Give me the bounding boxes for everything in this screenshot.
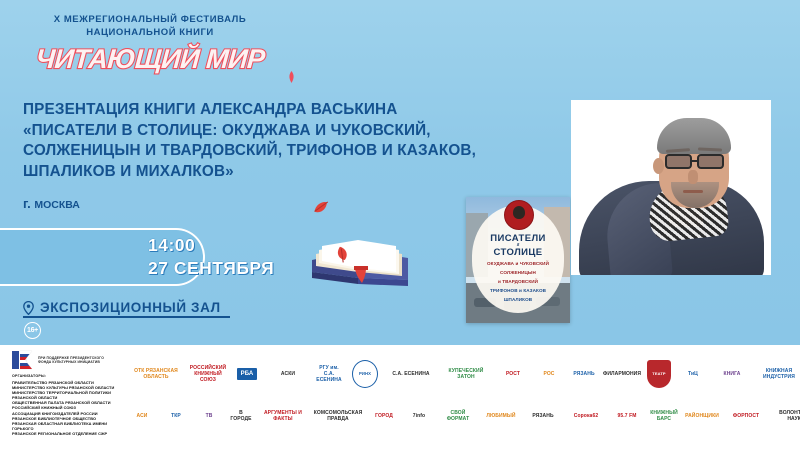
venue-underline <box>23 316 230 318</box>
title-line-4: ШПАЛИКОВ И МИХАЛКОВ» <box>23 162 543 183</box>
venue-name: ЭКСПОЗИЦИОННЫЙ ЗАЛ <box>40 300 221 315</box>
partner-logo: КОМСОМОЛЬСКАЯ ПРАВДА <box>312 401 364 431</box>
partner-logo: КУПЕЧЕСКИЙ ЗАТОН <box>442 359 490 389</box>
partner-logo: ФОРПОСТ <box>724 401 768 431</box>
partner-logo: Сорока62 <box>566 401 606 431</box>
photo-lens-left <box>665 154 692 169</box>
organizers-heading: ОРГАНИЗАТОРЫ: <box>12 374 46 378</box>
photo-nose <box>688 170 698 184</box>
page-title: ПРЕЗЕНТАЦИЯ КНИГИ АЛЕКСАНДРА ВАСЬКИНА «П… <box>23 100 543 182</box>
photo-lens-right <box>697 154 724 169</box>
city-name: МОСКВА <box>34 199 80 211</box>
photo-mouth <box>683 190 703 193</box>
partner-logo: АСКИ <box>268 359 308 389</box>
book-cover-title-2: СТОЛИЦЕ <box>466 247 570 258</box>
event-poster: X МЕЖРЕГИОНАЛЬНЫЙ ФЕСТИВАЛЬ НАЦИОНАЛЬНОЙ… <box>0 0 800 450</box>
city-prefix: г. <box>23 196 34 211</box>
festival-kicker-line1: X МЕЖРЕГИОНАЛЬНЫЙ ФЕСТИВАЛЬ <box>54 14 246 25</box>
partner-logo: РОССИЙСКИЙ КНИЖНЫЙ СОЮЗ <box>190 359 226 389</box>
partner-logo: ВОЛОНТЕРЫ НАУКИ <box>774 401 800 431</box>
festival-kicker: X МЕЖРЕГИОНАЛЬНЫЙ ФЕСТИВАЛЬ НАЦИОНАЛЬНОЙ… <box>0 14 300 39</box>
partner-logo-label: РБА <box>237 368 258 380</box>
partner-logo: ТКР <box>162 401 190 431</box>
partner-logo: РОСТ <box>496 359 530 389</box>
festival-kicker-line2: НАЦИОНАЛЬНОЙ КНИГИ <box>86 27 214 38</box>
partner-logo: КНИГА <box>712 359 752 389</box>
partner-logo: ТиЦ <box>680 359 706 389</box>
partner-logo: ТВ <box>196 401 222 431</box>
partner-logo: РБА <box>232 359 262 389</box>
partner-logo: В ГОРОДЕ <box>228 401 254 431</box>
title-line-3: СОЛЖЕНИЦЫН И ТВАРДОВСКИЙ, ТРИФОНОВ И КАЗ… <box>23 141 543 162</box>
festival-logo: ЧИТАЮЩИЙ МИР <box>0 44 300 75</box>
partner-logo: РЯЗАНЬ <box>526 401 560 431</box>
partner-logo: ФИЛАРМОНИЯ <box>606 359 638 389</box>
location-pin-icon <box>23 301 34 315</box>
partner-logo-row-2: АСИ ТКР ТВ В ГОРОДЕ АРГУМЕНТЫ И ФАКТЫ КО… <box>128 399 792 433</box>
partner-logo: ЛЮБИМЫЙ <box>482 401 520 431</box>
event-date: 27 СЕНТЯБРЯ <box>148 258 274 279</box>
partner-logo-row-1: ОТК РЯЗАНСКАЯ ОБЛАСТЬ РОССИЙСКИЙ КНИЖНЫЙ… <box>128 357 792 391</box>
partner-logo-grid: ОТК РЯЗАНСКАЯ ОБЛАСТЬ РОССИЙСКИЙ КНИЖНЫЙ… <box>128 351 792 447</box>
presidential-fund-label: ПРИ ПОДДЕРЖКЕ ПРЕЗИДЕНТСКОГО ФОНДА КУЛЬТ… <box>38 356 104 365</box>
author-portrait-icon <box>513 206 525 219</box>
partner-logo: РЯЗАНЬ <box>568 359 600 389</box>
book-cover-image: ПИСАТЕЛИ в СТОЛИЦЕ ОКУДЖАВА и ЧУКОВСКИЙ … <box>466 197 570 323</box>
logo-flourish-icon <box>287 71 296 83</box>
glasses-icon <box>663 154 729 170</box>
organizers-list: ПРАВИТЕЛЬСТВО РЯЗАНСКОЙ ОБЛАСТИ МИНИСТЕР… <box>12 380 124 436</box>
festival-logo-text: ЧИТАЮЩИЙ МИР <box>35 44 266 75</box>
partner-logo: ГОРОД <box>370 401 398 431</box>
partner-logo: ОТК РЯЗАНСКАЯ ОБЛАСТЬ <box>128 359 184 389</box>
partner-logo: РАЙОНЩИКИ <box>686 401 718 431</box>
venue-row: ЭКСПОЗИЦИОННЫЙ ЗАЛ <box>23 300 221 315</box>
russian-flag-k-icon <box>12 349 34 371</box>
event-time: 14:00 <box>148 235 195 256</box>
partner-logo-label: РИНХ <box>352 360 378 388</box>
speaker-photo <box>571 100 771 275</box>
title-line-2: «ПИСАТЕЛИ В СТОЛИЦЕ: ОКУДЖАВА И ЧУКОВСКИ… <box>23 121 543 142</box>
partner-logo: АРГУМЕНТЫ И ФАКТЫ <box>260 401 306 431</box>
open-book-illustration <box>300 200 420 292</box>
partner-logo: СВОЙ ФОРМАТ <box>440 401 476 431</box>
partner-logo: 7info <box>404 401 434 431</box>
sponsor-footer: ПРИ ПОДДЕРЖКЕ ПРЕЗИДЕНТСКОГО ФОНДА КУЛЬТ… <box>0 345 800 450</box>
partner-logo: КНИЖНАЯ ИНДУСТРИЯ <box>758 359 800 389</box>
partner-logo: КНИЖНЫЙ БАРС <box>648 401 680 431</box>
partner-logo: РГУ им. С.А. ЕСЕНИНА <box>314 359 344 389</box>
partner-logo: С.А. ЕСЕНИНА <box>386 359 436 389</box>
organizer-item: РЯЗАНСКАЯ ОБЛАСТНАЯ БИБЛИОТЕКА ИМЕНИ ГОР… <box>12 421 124 431</box>
city-label: г. МОСКВА <box>23 196 80 211</box>
book-cover-sub-3: и ТВАРДОВСКИЙ <box>466 279 570 285</box>
organizer-item: РЯЗАНСКОЕ РЕГИОНАЛЬНОЕ ОТДЕЛЕНИЕ СЖР <box>12 431 124 436</box>
age-rating-badge: 16+ <box>24 322 41 339</box>
book-cover-sub-1: ОКУДЖАВА и ЧУКОВСКИЙ <box>466 261 570 267</box>
book-cover-sub-2: СОЛЖЕНИЦЫН <box>466 270 570 276</box>
book-cover-sub-5: ШПАЛИКОВ <box>466 297 570 303</box>
partner-logo: РИНХ <box>350 359 380 389</box>
partner-logo: РОС <box>536 359 562 389</box>
title-line-1: ПРЕЗЕНТАЦИЯ КНИГИ АЛЕКСАНДРА ВАСЬКИНА <box>23 100 543 121</box>
book-cover-author-seal <box>504 200 534 230</box>
partner-logo: АСИ <box>128 401 156 431</box>
book-cover-sub-4: ТРИФОНОВ и КАЗАКОВ <box>466 288 570 294</box>
partner-logo-label: ТЕАТР <box>647 360 671 388</box>
partner-logo: ТЕАТР <box>644 359 674 389</box>
presidential-fund-logo: ПРИ ПОДДЕРЖКЕ ПРЕЗИДЕНТСКОГО ФОНДА КУЛЬТ… <box>12 349 104 371</box>
partner-logo: 95.7 FM <box>612 401 642 431</box>
